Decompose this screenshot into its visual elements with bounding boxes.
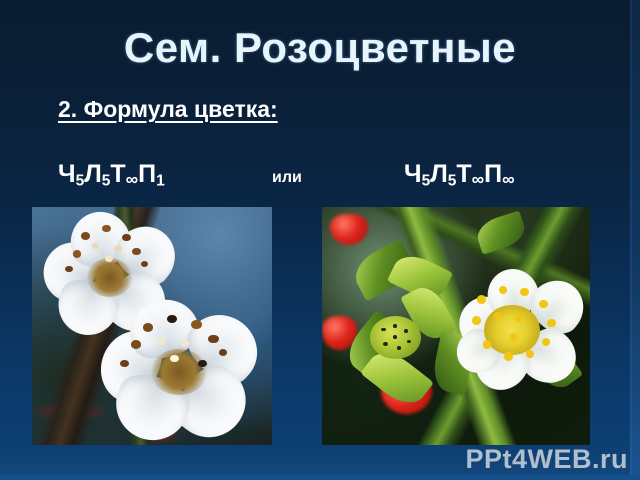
blossom-lower [94,297,267,440]
formula-left-symbol-3: Т [110,160,125,188]
slide-subtitle: 2. Формула цветка: [58,96,278,123]
right-edge-band [632,0,640,480]
formula-left-symbol-4: П [138,160,156,188]
formula-right-symbol-1: Ч [404,160,422,188]
formula-left-symbol-1: Ч [58,160,76,188]
formula-right-index-3: ∞ [472,169,484,189]
formula-right-index-1: 5 [422,172,431,189]
stamen-1 [477,295,486,304]
formula-left-index-1: 5 [76,172,85,189]
flower-formula-right: Ч5Л5Т∞П∞ [404,162,515,189]
stamen-8 [504,352,513,361]
stamen-10 [472,316,481,325]
cherry-blossom-photo [32,207,272,445]
strawberry-flower-photo [322,207,590,445]
right-edge-line [630,0,632,480]
formula-separator: или [272,169,302,187]
formula-left-symbol-2: Л [84,160,102,188]
formula-right-index-4: ∞ [502,169,514,189]
flower-formula-left: Ч5Л5Т∞П1 [58,162,165,189]
slide-title: Сем. Розоцветные [0,24,640,72]
flower-formula-row: Ч5Л5Т∞П1 или Ч5Л5Т∞П∞ [0,158,640,198]
stamen-13 [510,333,518,341]
formula-left-index-4: 1 [156,172,165,189]
stamen-4 [539,300,548,309]
formula-right-symbol-2: Л [430,160,448,188]
formula-left-index-3: ∞ [126,169,138,189]
formula-right-symbol-3: Т [456,160,471,188]
bottom-edge-line [0,475,640,480]
watermark: PPt4WEB.ru [465,444,628,475]
formula-right-symbol-4: П [484,160,502,188]
stamen-5 [547,319,556,328]
stamen-9 [483,340,492,349]
slide-canvas: Сем. Розоцветные 2. Формула цветка: Ч5Л5… [0,0,640,480]
flower-center [484,305,540,355]
